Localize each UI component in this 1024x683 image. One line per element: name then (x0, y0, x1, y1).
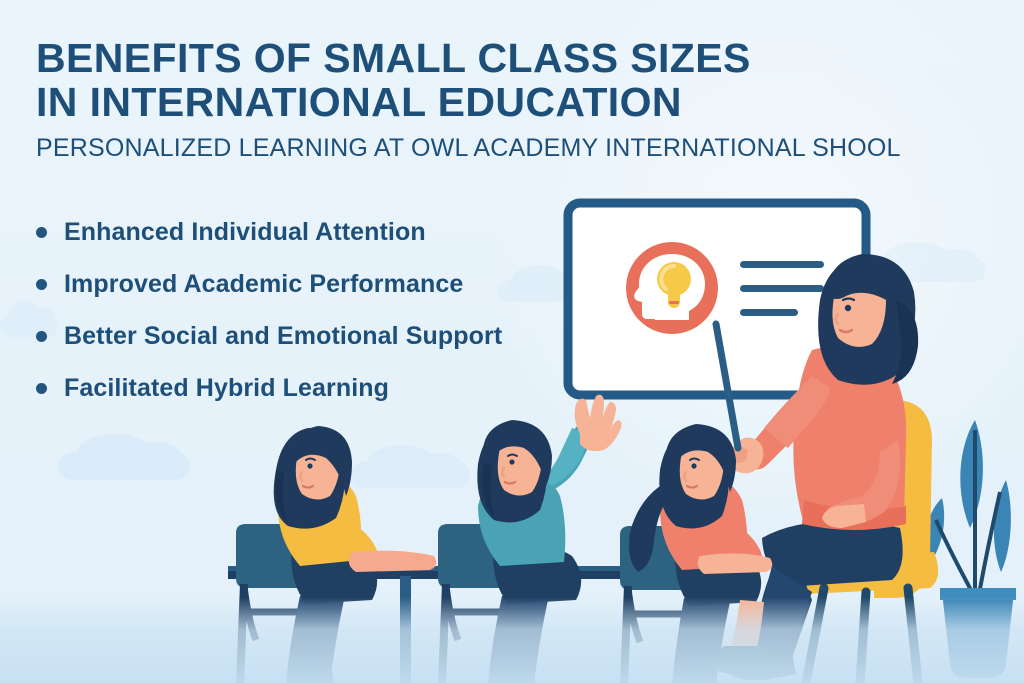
list-item: Better Social and Emotional Support (36, 310, 556, 362)
list-item: Improved Academic Performance (36, 258, 556, 310)
bullet-dot-icon (36, 331, 47, 342)
page-title-line-2: IN INTERNATIONAL EDUCATION (36, 80, 936, 124)
cloud-shape (866, 258, 986, 282)
heading-block: BENEFITS OF SMALL CLASS SIZES IN INTERNA… (36, 36, 936, 162)
bullet-dot-icon (36, 383, 47, 394)
list-item-label: Enhanced Individual Attention (64, 217, 426, 247)
cloud-shape (58, 452, 190, 480)
list-item-label: Better Social and Emotional Support (64, 321, 502, 351)
page-title-line-1: BENEFITS OF SMALL CLASS SIZES (36, 36, 936, 80)
bullet-dot-icon (36, 227, 47, 238)
benefits-list: Enhanced Individual Attention Improved A… (36, 206, 556, 414)
list-item: Facilitated Hybrid Learning (36, 362, 556, 414)
list-item-label: Facilitated Hybrid Learning (64, 373, 389, 403)
page-subtitle: PERSONALIZED LEARNING AT OWL ACADEMY INT… (36, 134, 936, 162)
list-item: Enhanced Individual Attention (36, 206, 556, 258)
list-item-label: Improved Academic Performance (64, 269, 463, 299)
cloud-shape (350, 462, 470, 488)
bullet-dot-icon (36, 279, 47, 290)
infographic-poster: BENEFITS OF SMALL CLASS SIZES IN INTERNA… (0, 0, 1024, 683)
floor-band (0, 597, 1024, 683)
